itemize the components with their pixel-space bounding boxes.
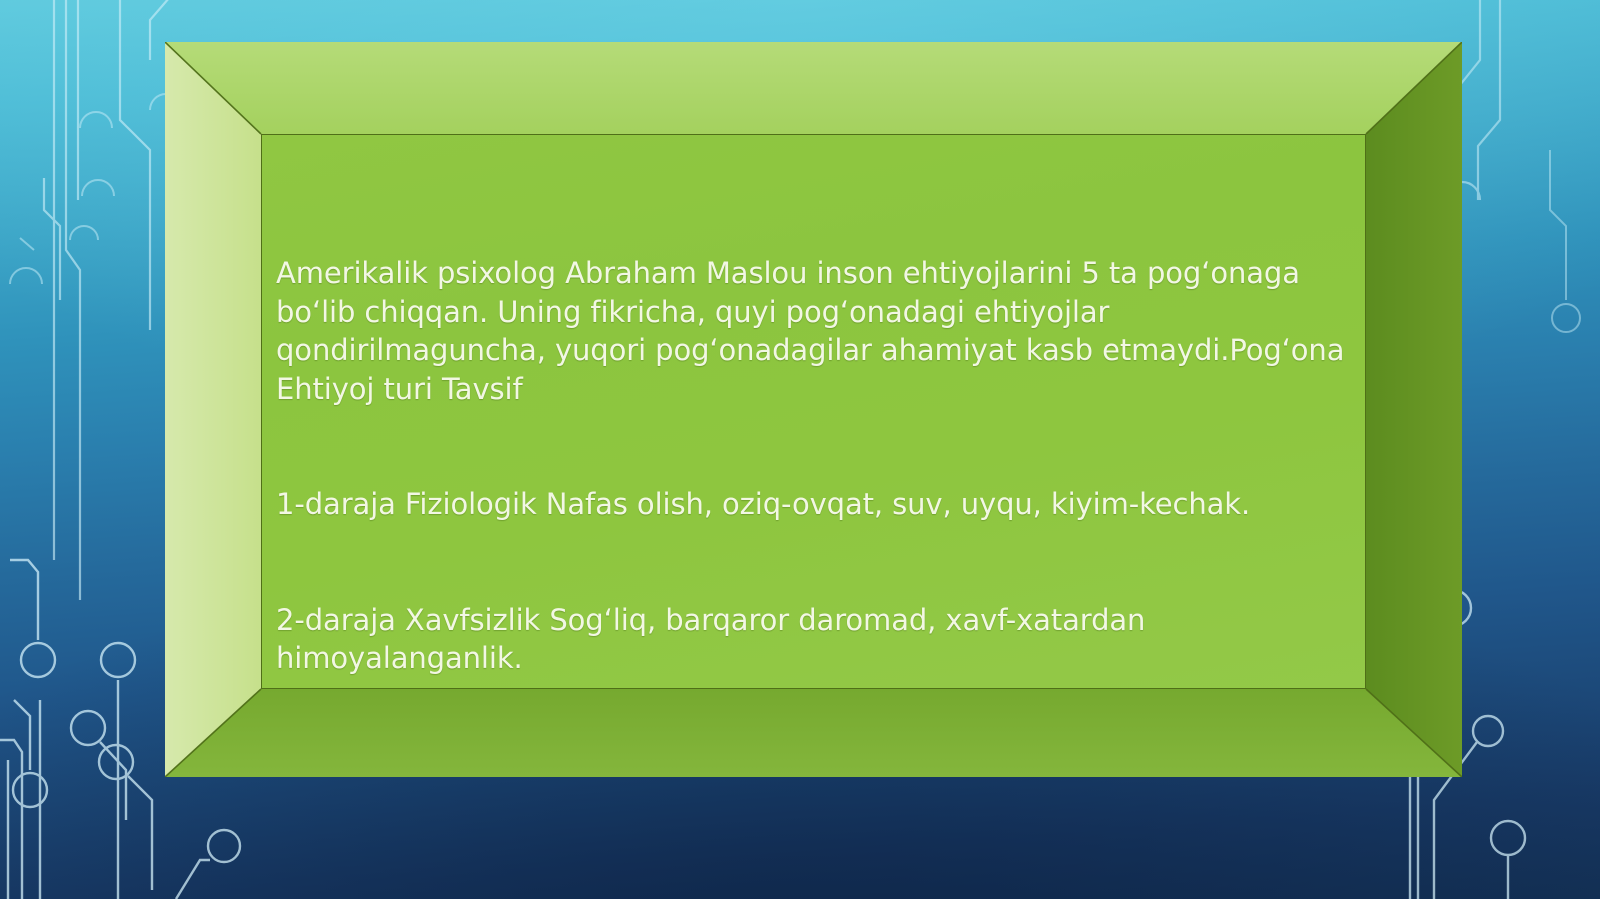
paragraph-level-2: 2-daraja Xavfsizlik Sog‘liq, barqaror da… — [276, 601, 1349, 678]
decorative-frame: Amerikalik psixolog Abraham Maslou inson… — [165, 42, 1462, 777]
slide-body-text: Amerikalik psixolog Abraham Maslou inson… — [276, 177, 1349, 689]
paragraph-intro: Amerikalik psixolog Abraham Maslou inson… — [276, 254, 1349, 408]
slide-root: Amerikalik psixolog Abraham Maslou inson… — [0, 0, 1600, 899]
content-panel: Amerikalik psixolog Abraham Maslou inson… — [261, 134, 1366, 689]
paragraph-level-1: 1-daraja Fiziologik Nafas olish, oziq-ov… — [276, 485, 1349, 524]
